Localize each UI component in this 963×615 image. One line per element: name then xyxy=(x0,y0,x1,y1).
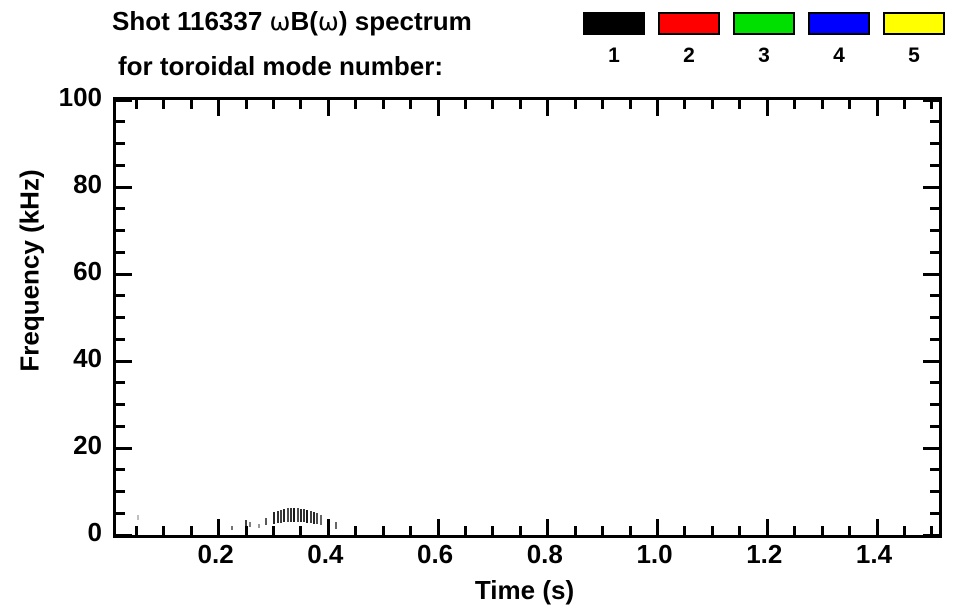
x-tick-label-0.2: 0.2 xyxy=(176,541,256,567)
y-tick-label-100: 100 xyxy=(59,84,102,110)
spectrum-streak-mode-1 xyxy=(249,522,251,528)
x-tick-minor-bottom xyxy=(354,526,357,535)
plot-frame xyxy=(113,97,942,538)
legend-label-4: 4 xyxy=(808,45,870,67)
legend-swatch-2 xyxy=(658,12,720,35)
spectrum-streak-mode-1 xyxy=(303,509,305,522)
legend-label-2: 2 xyxy=(658,45,720,67)
spectrum-streak-mode-1 xyxy=(310,511,312,523)
x-tick-minor-bottom xyxy=(491,526,494,535)
x-tick-minor-top xyxy=(683,100,686,109)
x-tick-minor-top xyxy=(299,100,302,109)
legend-item-4: 4 xyxy=(808,0,870,67)
x-tick-minor-top xyxy=(162,100,165,109)
y-tick-minor-right xyxy=(930,512,939,515)
y-tick-minor-left xyxy=(116,490,125,493)
y-tick-minor-right xyxy=(930,120,939,123)
x-tick-minor-top xyxy=(519,100,522,109)
y-tick-minor-left xyxy=(116,207,125,210)
x-tick-label-1.4: 1.4 xyxy=(834,541,914,567)
x-tick-major-bottom-1 xyxy=(656,519,659,535)
x-tick-major-top-1.2 xyxy=(766,100,769,116)
x-axis-tick-labels: 0.20.40.60.81.01.21.4 xyxy=(113,541,936,575)
x-tick-minor-top xyxy=(821,100,824,109)
spectrum-streak-mode-1 xyxy=(335,522,337,529)
y-tick-minor-right xyxy=(930,381,939,384)
spectrum-streak-mode-1 xyxy=(280,510,282,523)
y-tick-minor-left xyxy=(116,229,125,232)
y-tick-minor-left xyxy=(116,512,125,515)
y-tick-major-right-20 xyxy=(923,447,939,450)
x-tick-major-top-1.4 xyxy=(876,100,879,116)
x-tick-minor-bottom xyxy=(299,526,302,535)
spectrum-streak-mode-1 xyxy=(137,515,139,520)
y-tick-minor-right xyxy=(930,294,939,297)
x-tick-label-0.8: 0.8 xyxy=(505,541,585,567)
x-tick-major-bottom-0.8 xyxy=(546,519,549,535)
x-tick-minor-bottom xyxy=(519,526,522,535)
y-tick-minor-left xyxy=(116,316,125,319)
y-tick-label-80: 80 xyxy=(73,171,102,197)
y-tick-minor-right xyxy=(930,142,939,145)
x-tick-minor-top xyxy=(930,100,933,109)
y-tick-minor-left xyxy=(116,142,125,145)
x-tick-minor-bottom xyxy=(793,526,796,535)
x-tick-minor-bottom xyxy=(711,526,714,535)
y-tick-minor-left xyxy=(116,251,125,254)
legend-label-1: 1 xyxy=(583,45,645,67)
y-tick-minor-left xyxy=(116,294,125,297)
x-tick-minor-top xyxy=(245,100,248,109)
x-tick-minor-top xyxy=(574,100,577,109)
y-tick-major-left-40 xyxy=(116,360,132,363)
chart-title-line-2: for toroidal mode number: xyxy=(118,51,443,82)
y-tick-major-left-20 xyxy=(116,447,132,450)
chart-title-prefix: Shot 116337 xyxy=(112,6,270,36)
x-tick-major-top-0.8 xyxy=(546,100,549,116)
y-tick-major-left-100 xyxy=(116,99,132,102)
x-tick-minor-bottom xyxy=(629,526,632,535)
spectrum-streak-mode-1 xyxy=(293,508,295,522)
x-tick-minor-bottom xyxy=(848,526,851,535)
x-tick-major-top-0.2 xyxy=(217,100,220,116)
spectrum-streak-mode-1 xyxy=(231,526,233,530)
x-tick-minor-top xyxy=(409,100,412,109)
y-tick-major-right-60 xyxy=(923,273,939,276)
chart-title-line-1: Shot 116337 ωB(ω) spectrum xyxy=(112,6,472,37)
y-tick-minor-left xyxy=(116,164,125,167)
y-tick-major-left-60 xyxy=(116,273,132,276)
legend-swatch-1 xyxy=(583,12,645,35)
x-tick-minor-bottom xyxy=(738,526,741,535)
legend-item-3: 3 xyxy=(733,0,795,67)
y-tick-label-20: 20 xyxy=(73,432,102,458)
x-tick-minor-top xyxy=(793,100,796,109)
spectrum-streak-mode-1 xyxy=(306,510,308,523)
x-tick-minor-bottom xyxy=(382,526,385,535)
y-tick-minor-right xyxy=(930,207,939,210)
legend-label-5: 5 xyxy=(883,45,945,67)
y-tick-label-40: 40 xyxy=(73,345,102,371)
plot-canvas xyxy=(116,100,939,535)
spectrum-streak-mode-1 xyxy=(297,508,299,522)
legend-item-5: 5 xyxy=(883,0,945,67)
spectrum-streak-mode-1 xyxy=(300,509,302,522)
y-tick-minor-left xyxy=(116,381,125,384)
chart-title-mid: B( xyxy=(290,6,317,36)
x-tick-minor-bottom xyxy=(464,526,467,535)
y-tick-minor-left xyxy=(116,403,125,406)
legend-label-3: 3 xyxy=(733,45,795,67)
x-tick-minor-bottom xyxy=(135,526,138,535)
y-tick-minor-right xyxy=(930,251,939,254)
omega-symbol-2: ω xyxy=(318,7,339,36)
y-tick-minor-right xyxy=(930,338,939,341)
x-tick-minor-top xyxy=(711,100,714,109)
x-tick-minor-bottom xyxy=(272,526,275,535)
y-tick-major-right-40 xyxy=(923,360,939,363)
omega-symbol-1: ω xyxy=(270,7,291,36)
chart-title-suffix: ) spectrum xyxy=(339,6,472,36)
spectrum-streak-mode-1 xyxy=(316,513,318,524)
x-tick-minor-top xyxy=(190,100,193,109)
x-tick-minor-bottom xyxy=(409,526,412,535)
y-tick-minor-left xyxy=(116,120,125,123)
y-tick-label-0: 0 xyxy=(88,519,102,545)
y-tick-minor-left xyxy=(116,338,125,341)
y-tick-major-right-80 xyxy=(923,186,939,189)
x-tick-major-bottom-1.4 xyxy=(876,519,879,535)
x-tick-minor-bottom xyxy=(930,526,933,535)
x-tick-minor-top xyxy=(464,100,467,109)
legend-swatch-5 xyxy=(883,12,945,35)
x-tick-minor-top xyxy=(491,100,494,109)
y-tick-minor-right xyxy=(930,403,939,406)
x-tick-minor-top xyxy=(135,100,138,109)
x-tick-minor-top xyxy=(601,100,604,109)
legend: 12345 xyxy=(583,0,963,95)
y-tick-minor-right xyxy=(930,164,939,167)
x-tick-major-bottom-0.6 xyxy=(437,519,440,535)
x-tick-minor-bottom xyxy=(190,526,193,535)
x-tick-minor-top xyxy=(848,100,851,109)
spectrum-streak-mode-1 xyxy=(287,508,289,521)
legend-swatch-4 xyxy=(808,12,870,35)
x-tick-minor-top xyxy=(903,100,906,109)
legend-item-2: 2 xyxy=(658,0,720,67)
x-tick-minor-top xyxy=(354,100,357,109)
x-tick-minor-bottom xyxy=(821,526,824,535)
spectrum-streak-mode-1 xyxy=(273,512,275,524)
y-tick-minor-left xyxy=(116,468,125,471)
x-tick-minor-bottom xyxy=(903,526,906,535)
y-tick-minor-right xyxy=(930,229,939,232)
y-tick-label-60: 60 xyxy=(73,258,102,284)
spectrum-streak-mode-1 xyxy=(313,512,315,524)
x-tick-minor-top xyxy=(272,100,275,109)
x-tick-minor-top xyxy=(629,100,632,109)
x-tick-minor-bottom xyxy=(601,526,604,535)
x-axis-title: Time (s) xyxy=(113,575,936,606)
spectrum-streak-mode-1 xyxy=(265,518,267,526)
y-tick-minor-right xyxy=(930,316,939,319)
spectrum-streak-mode-1 xyxy=(283,509,285,522)
x-tick-label-0.4: 0.4 xyxy=(285,541,365,567)
y-tick-major-left-0 xyxy=(116,534,132,537)
spectrum-streak-mode-1 xyxy=(290,508,292,522)
spectrum-streak-mode-1 xyxy=(277,511,279,524)
x-tick-minor-bottom xyxy=(683,526,686,535)
x-tick-minor-bottom xyxy=(574,526,577,535)
x-tick-label-1.2: 1.2 xyxy=(724,541,804,567)
x-tick-minor-top xyxy=(738,100,741,109)
y-tick-minor-right xyxy=(930,425,939,428)
y-tick-major-left-80 xyxy=(116,186,132,189)
y-tick-minor-left xyxy=(116,425,125,428)
spectrum-streak-mode-1 xyxy=(258,524,260,529)
x-tick-major-bottom-0.4 xyxy=(327,519,330,535)
x-tick-major-top-0.6 xyxy=(437,100,440,116)
x-tick-major-bottom-0.2 xyxy=(217,519,220,535)
y-axis-title: Frequency (kHz) xyxy=(15,61,46,481)
x-tick-major-top-1 xyxy=(656,100,659,116)
y-tick-minor-right xyxy=(930,490,939,493)
spectrum-streak-mode-1 xyxy=(320,515,322,525)
x-tick-label-0.6: 0.6 xyxy=(395,541,475,567)
y-tick-minor-right xyxy=(930,468,939,471)
x-tick-minor-bottom xyxy=(245,526,248,535)
legend-swatch-3 xyxy=(733,12,795,35)
x-tick-minor-bottom xyxy=(162,526,165,535)
x-tick-major-bottom-1.2 xyxy=(766,519,769,535)
x-tick-major-top-0.4 xyxy=(327,100,330,116)
x-tick-minor-top xyxy=(382,100,385,109)
x-tick-label-1.0: 1.0 xyxy=(615,541,695,567)
legend-item-1: 1 xyxy=(583,0,645,67)
